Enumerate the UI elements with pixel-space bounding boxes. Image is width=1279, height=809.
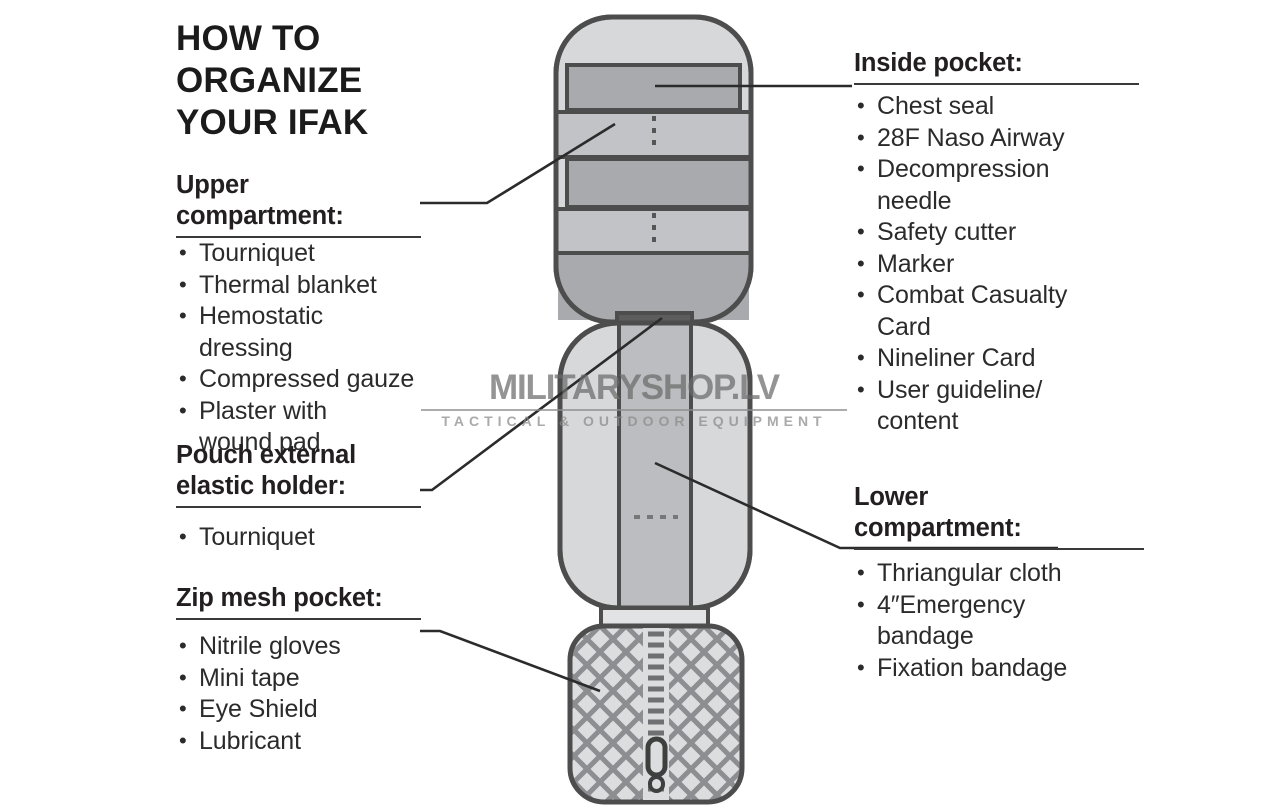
list-item: Thermal blanket	[176, 270, 421, 302]
section-pouch-external-elastic-holder: Pouch external elastic holder: Tournique…	[176, 440, 421, 554]
infographic-canvas: HOW TO ORGANIZE YOUR IFAK Upper compartm…	[0, 0, 1279, 809]
heading-rule	[176, 618, 421, 620]
section-zip-mesh-pocket: Zip mesh pocket: Nitrile gloves Mini tap…	[176, 583, 421, 757]
list-item: Fixation bandage	[854, 653, 1144, 685]
zip-mesh-pocket	[570, 626, 742, 802]
heading-rule	[176, 506, 421, 508]
section-inside-pocket: Inside pocket: Chest seal 28F Naso Airwa…	[854, 48, 1139, 438]
list-item: Nineliner Card	[854, 343, 1139, 375]
list-item: Nitrile gloves	[176, 631, 421, 663]
pouch-connector-tab	[601, 608, 708, 626]
list-zip-mesh-pocket: Nitrile gloves Mini tape Eye Shield Lubr…	[176, 631, 421, 757]
list-item: Safety cutter	[854, 217, 1139, 249]
heading-rule	[854, 83, 1139, 85]
list-item: Compressed gauze	[176, 364, 421, 396]
list-item: 4″Emergency bandage	[854, 590, 1144, 653]
list-item: Hemostatic dressing	[176, 301, 421, 364]
list-lower-compartment: Thriangular cloth 4″Emergency bandage Fi…	[854, 558, 1144, 684]
list-item: Marker	[854, 249, 1139, 281]
section-lower-compartment: Lower compartment: Thriangular cloth 4″E…	[854, 482, 1144, 684]
list-item: Lubricant	[176, 726, 421, 758]
list-item: Mini tape	[176, 663, 421, 695]
upper-pouch	[556, 17, 751, 322]
section-heading-inside-pocket: Inside pocket:	[854, 48, 1139, 79]
list-item: Thriangular cloth	[854, 558, 1144, 590]
list-item: Decompression needle	[854, 154, 1139, 217]
list-item: Tourniquet	[176, 238, 421, 270]
section-heading-lower-compartment: Lower compartment:	[854, 482, 1144, 544]
list-item: User guideline/ content	[854, 375, 1139, 438]
section-upper-compartment: Upper compartment: Tourniquet Thermal bl…	[176, 170, 421, 459]
list-upper-compartment: Tourniquet Thermal blanket Hemostatic dr…	[176, 238, 421, 459]
heading-rule	[854, 548, 1144, 550]
list-item: 28F Naso Airway	[854, 123, 1139, 155]
list-item: Tourniquet	[176, 522, 421, 554]
list-inside-pocket: Chest seal 28F Naso Airway Decompression…	[854, 91, 1139, 438]
section-heading-upper-compartment: Upper compartment:	[176, 170, 421, 232]
section-heading-pouch-external-elastic-holder: Pouch external elastic holder:	[176, 440, 421, 502]
page-title: HOW TO ORGANIZE YOUR IFAK	[176, 18, 506, 144]
list-item: Combat Casualty Card	[854, 280, 1139, 343]
section-heading-zip-mesh-pocket: Zip mesh pocket:	[176, 583, 421, 614]
list-item: Chest seal	[854, 91, 1139, 123]
list-item: Eye Shield	[176, 694, 421, 726]
middle-pouch	[560, 323, 750, 608]
list-pouch-external-elastic-holder: Tourniquet	[176, 522, 421, 554]
